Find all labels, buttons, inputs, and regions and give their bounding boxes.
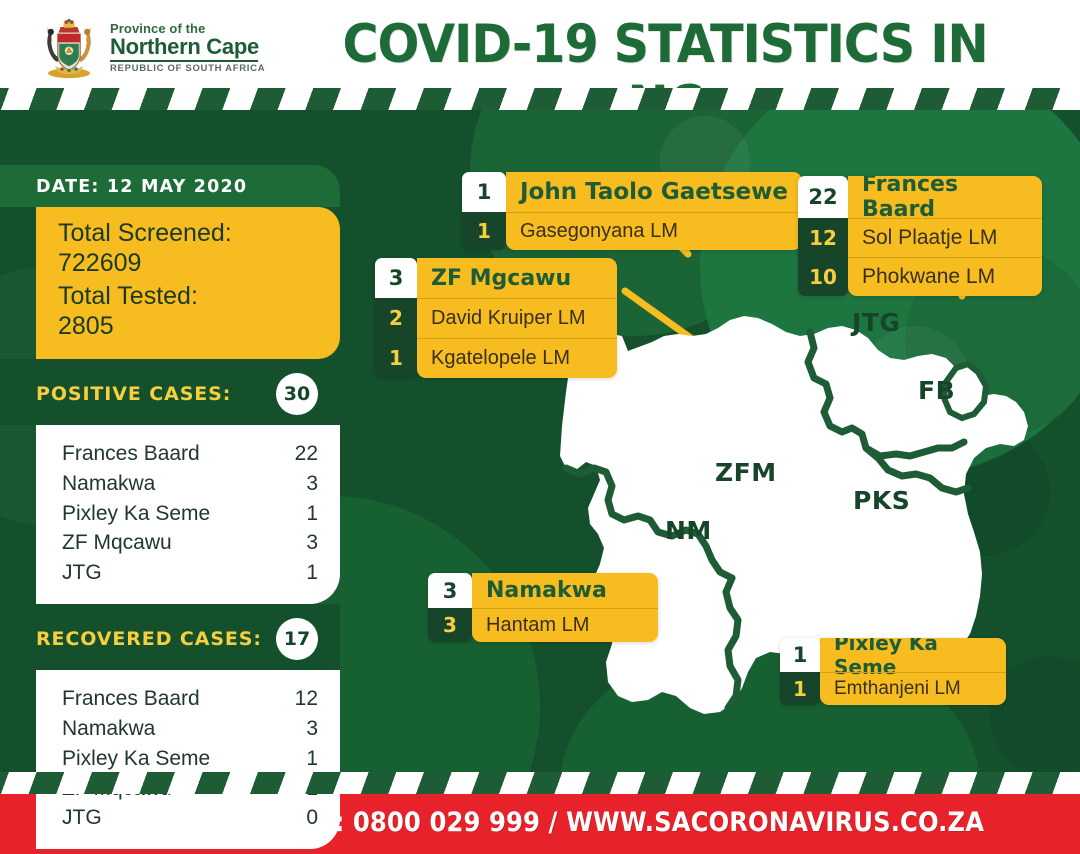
district-count: 3 (306, 528, 318, 558)
callout-district-name: Frances Baard (848, 176, 1042, 218)
callout-frances-baard[interactable]: 22 12 10 Frances Baard Sol Plaatje LM Ph… (798, 176, 1042, 296)
callout-muni-count: 3 (428, 608, 472, 642)
stats-sidebar: DATE: 12 MAY 2020 Total Screened: 722609… (0, 165, 340, 849)
callout-total: 1 (780, 638, 820, 672)
district-count: 0 (306, 803, 318, 833)
callout-district-name: ZF Mgcawu (417, 258, 617, 298)
district-name: JTG (62, 803, 102, 833)
recovered-cases-total-badge: 17 (276, 618, 318, 660)
table-row: Pixley Ka Seme 1 (62, 499, 318, 529)
district-name: Pixley Ka Seme (62, 499, 210, 529)
positive-cases-list: Frances Baard 22 Namakwa 3 Pixley Ka Sem… (36, 425, 340, 604)
callout-muni-name: Hantam LM (472, 608, 658, 642)
callout-counts: 22 12 10 (798, 176, 848, 296)
positive-cases-header: POSITIVE CASES: 30 (0, 359, 340, 425)
callout-muni-name: David Kruiper LM (417, 298, 617, 338)
logo-line-country: REPUBLIC OF SOUTH AFRICA (110, 64, 265, 74)
district-name: Pixley Ka Seme (62, 744, 210, 774)
recovered-cases-list: Frances Baard 12 Namakwa 3 Pixley Ka Sem… (36, 670, 340, 849)
coat-of-arms-icon (34, 13, 104, 83)
district-count: 1 (306, 558, 318, 588)
callout-total: 3 (428, 573, 472, 608)
district-count: 12 (295, 684, 318, 714)
callout-muni-name: Phokwane LM (848, 257, 1042, 296)
callout-counts: 3 3 (428, 573, 472, 642)
table-row: Frances Baard 12 (62, 684, 318, 714)
map-label-fb: FB (918, 376, 955, 405)
recovered-cases-label: RECOVERED CASES: (36, 628, 262, 650)
callout-muni-name: Kgatelopele LM (417, 338, 617, 378)
district-name: Frances Baard (62, 684, 200, 714)
callout-muni-name: Sol Plaatje LM (848, 218, 1042, 257)
callout-counts: 3 2 1 (375, 258, 417, 378)
callout-counts: 1 1 (780, 638, 820, 705)
district-name: Namakwa (62, 469, 155, 499)
callout-zf-mgcawu[interactable]: 3 2 1 ZF Mgcawu David Kruiper LM Kgatelo… (375, 258, 617, 378)
callout-pixley-ka-seme[interactable]: 1 1 Pixley Ka Seme Emthanjeni LM (780, 638, 1006, 705)
logo-line-name: Northern Cape (110, 35, 265, 58)
total-screened-label: Total Screened: (58, 219, 232, 247)
callout-body: Pixley Ka Seme Emthanjeni LM (820, 638, 1006, 705)
callout-body: Namakwa Hantam LM (472, 573, 658, 642)
positive-cases-label: POSITIVE CASES: (36, 383, 231, 405)
provincial-logo: Province of the Northern Cape REPUBLIC O… (34, 13, 265, 83)
callout-muni-count: 1 (462, 212, 506, 250)
callout-body: John Taolo Gaetsewe Gasegonyana LM (506, 172, 802, 250)
callout-total: 3 (375, 258, 417, 298)
map-label-jtg: JTG (852, 308, 900, 337)
map-label-zfm: ZFM (715, 458, 777, 487)
total-tested-value: 2805 (58, 312, 326, 342)
district-count: 1 (306, 499, 318, 529)
callout-muni-name: Gasegonyana LM (506, 212, 802, 250)
callout-counts: 1 1 (462, 172, 506, 250)
positive-cases-total-badge: 30 (276, 373, 318, 415)
map-label-nm: NM (665, 516, 712, 545)
callout-body: Frances Baard Sol Plaatje LM Phokwane LM (848, 176, 1042, 296)
district-count: 3 (306, 714, 318, 744)
callout-john-taolo-gaetsewe[interactable]: 1 1 John Taolo Gaetsewe Gasegonyana LM (462, 172, 802, 250)
district-count: 1 (306, 744, 318, 774)
map-label-pks: PKS (853, 486, 910, 515)
logo-line-province: Province of the (110, 22, 265, 36)
callout-district-name: John Taolo Gaetsewe (506, 172, 802, 212)
district-name: ZF Mqcawu (62, 528, 172, 558)
table-row: Namakwa 3 (62, 469, 318, 499)
callout-muni-count: 1 (780, 672, 820, 705)
callout-body: ZF Mgcawu David Kruiper LM Kgatelopele L… (417, 258, 617, 378)
callout-namakwa[interactable]: 3 3 Namakwa Hantam LM (428, 573, 658, 642)
table-row: JTG 1 (62, 558, 318, 588)
callout-muni-count: 2 (375, 298, 417, 338)
total-screened-value: 722609 (58, 249, 326, 279)
callout-district-name: Pixley Ka Seme (820, 638, 1006, 672)
district-name: Frances Baard (62, 439, 200, 469)
total-tested-label: Total Tested: (58, 282, 198, 310)
table-row: Namakwa 3 (62, 714, 318, 744)
callout-muni-count: 12 (798, 218, 848, 257)
recovered-cases-header: RECOVERED CASES: 17 (0, 604, 340, 670)
stripe-divider-bottom (0, 772, 1080, 794)
callout-total: 22 (798, 176, 848, 218)
callout-district-name: Namakwa (472, 573, 658, 608)
date-banner: DATE: 12 MAY 2020 (0, 165, 340, 207)
district-count: 3 (306, 469, 318, 499)
district-name: JTG (62, 558, 102, 588)
infographic-poster: Province of the Northern Cape REPUBLIC O… (0, 0, 1080, 854)
stripe-divider-top (0, 88, 1080, 110)
callout-muni-name: Emthanjeni LM (820, 672, 1006, 705)
callout-total: 1 (462, 172, 506, 212)
callout-muni-count: 1 (375, 338, 417, 378)
table-row: Frances Baard 22 (62, 439, 318, 469)
table-row: ZF Mqcawu 3 (62, 528, 318, 558)
logo-divider (110, 60, 258, 62)
district-count: 22 (295, 439, 318, 469)
page-header: Province of the Northern Cape REPUBLIC O… (0, 0, 1080, 96)
totals-panel: Total Screened: 722609 Total Tested: 280… (36, 207, 340, 359)
table-row: Pixley Ka Seme 1 (62, 744, 318, 774)
district-name: Namakwa (62, 714, 155, 744)
table-row: JTG 0 (62, 803, 318, 833)
callout-muni-count: 10 (798, 257, 848, 296)
